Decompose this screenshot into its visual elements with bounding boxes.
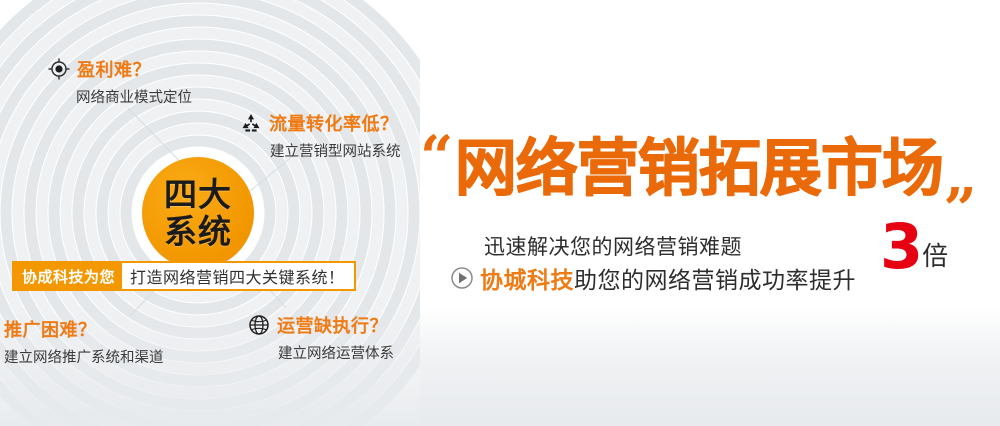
callout-operations-subtitle: 建立网络运营体系: [278, 342, 394, 363]
callout-profit-head: 盈利难？: [48, 56, 192, 82]
subheadline-line-2: 协城科技 助您的网络营销成功率提升: [450, 261, 856, 295]
callout-operations-head: 运营缺执行？: [248, 312, 394, 338]
callout-promotion-subtitle: 建立网络推广系统和渠道: [4, 346, 164, 367]
quote-open-mark: “: [420, 140, 453, 176]
callout-promotion-title: 推广困难？: [4, 316, 97, 342]
play-circle-icon: [450, 266, 474, 290]
globe-icon: [248, 314, 270, 336]
four-systems-disc: 四大 系统: [142, 157, 254, 269]
callout-operations: 运营缺执行？ 建立网络运营体系: [248, 312, 394, 363]
callout-promotion-head: 推广困难？: [4, 316, 164, 342]
slogan-bar: 协成科技为您 打造网络营销四大关键系统！: [12, 261, 356, 291]
callout-traffic-subtitle: 建立营销型网站系统: [270, 140, 401, 161]
multiplier-number: 3: [880, 222, 921, 273]
callout-traffic-title: 流量转化率低？: [269, 110, 399, 136]
callout-profit-title: 盈利难？: [77, 56, 151, 82]
callout-promotion: 推广困难？ 建立网络推广系统和渠道: [4, 316, 164, 367]
brand-name: 协城科技: [480, 261, 574, 295]
callout-traffic: 流量转化率低？ 建立营销型网站系统: [240, 110, 401, 161]
slogan-bar-highlight: 协成科技为您: [14, 263, 122, 289]
promo-banner: 四大 系统 盈利难？ 网络商业模式定位: [0, 0, 1000, 426]
multiplier-unit: 倍: [922, 244, 948, 270]
disc-line-2: 系统: [164, 215, 232, 248]
quote-close-mark: „: [944, 147, 977, 205]
crosshair-target-icon: [48, 58, 70, 80]
headline: “ 网络营销拓展市场 „: [420, 138, 978, 199]
recycle-icon: [240, 112, 262, 134]
callout-profit-subtitle: 网络商业模式定位: [76, 86, 192, 107]
disc-line-1: 四大: [164, 178, 232, 211]
callout-profit: 盈利难？ 网络商业模式定位: [48, 56, 192, 107]
callout-operations-title: 运营缺执行？: [277, 312, 388, 338]
multiplier-callout: 3 倍: [880, 222, 948, 273]
slogan-bar-text: 打造网络营销四大关键系统！: [122, 263, 354, 289]
subheadline-line-1: 迅速解决您的网络营销难题: [484, 231, 742, 261]
callout-traffic-head: 流量转化率低？: [240, 110, 401, 136]
headline-text: 网络营销拓展市场: [454, 138, 942, 199]
subheadline-tail: 助您的网络营销成功率提升: [574, 261, 856, 295]
